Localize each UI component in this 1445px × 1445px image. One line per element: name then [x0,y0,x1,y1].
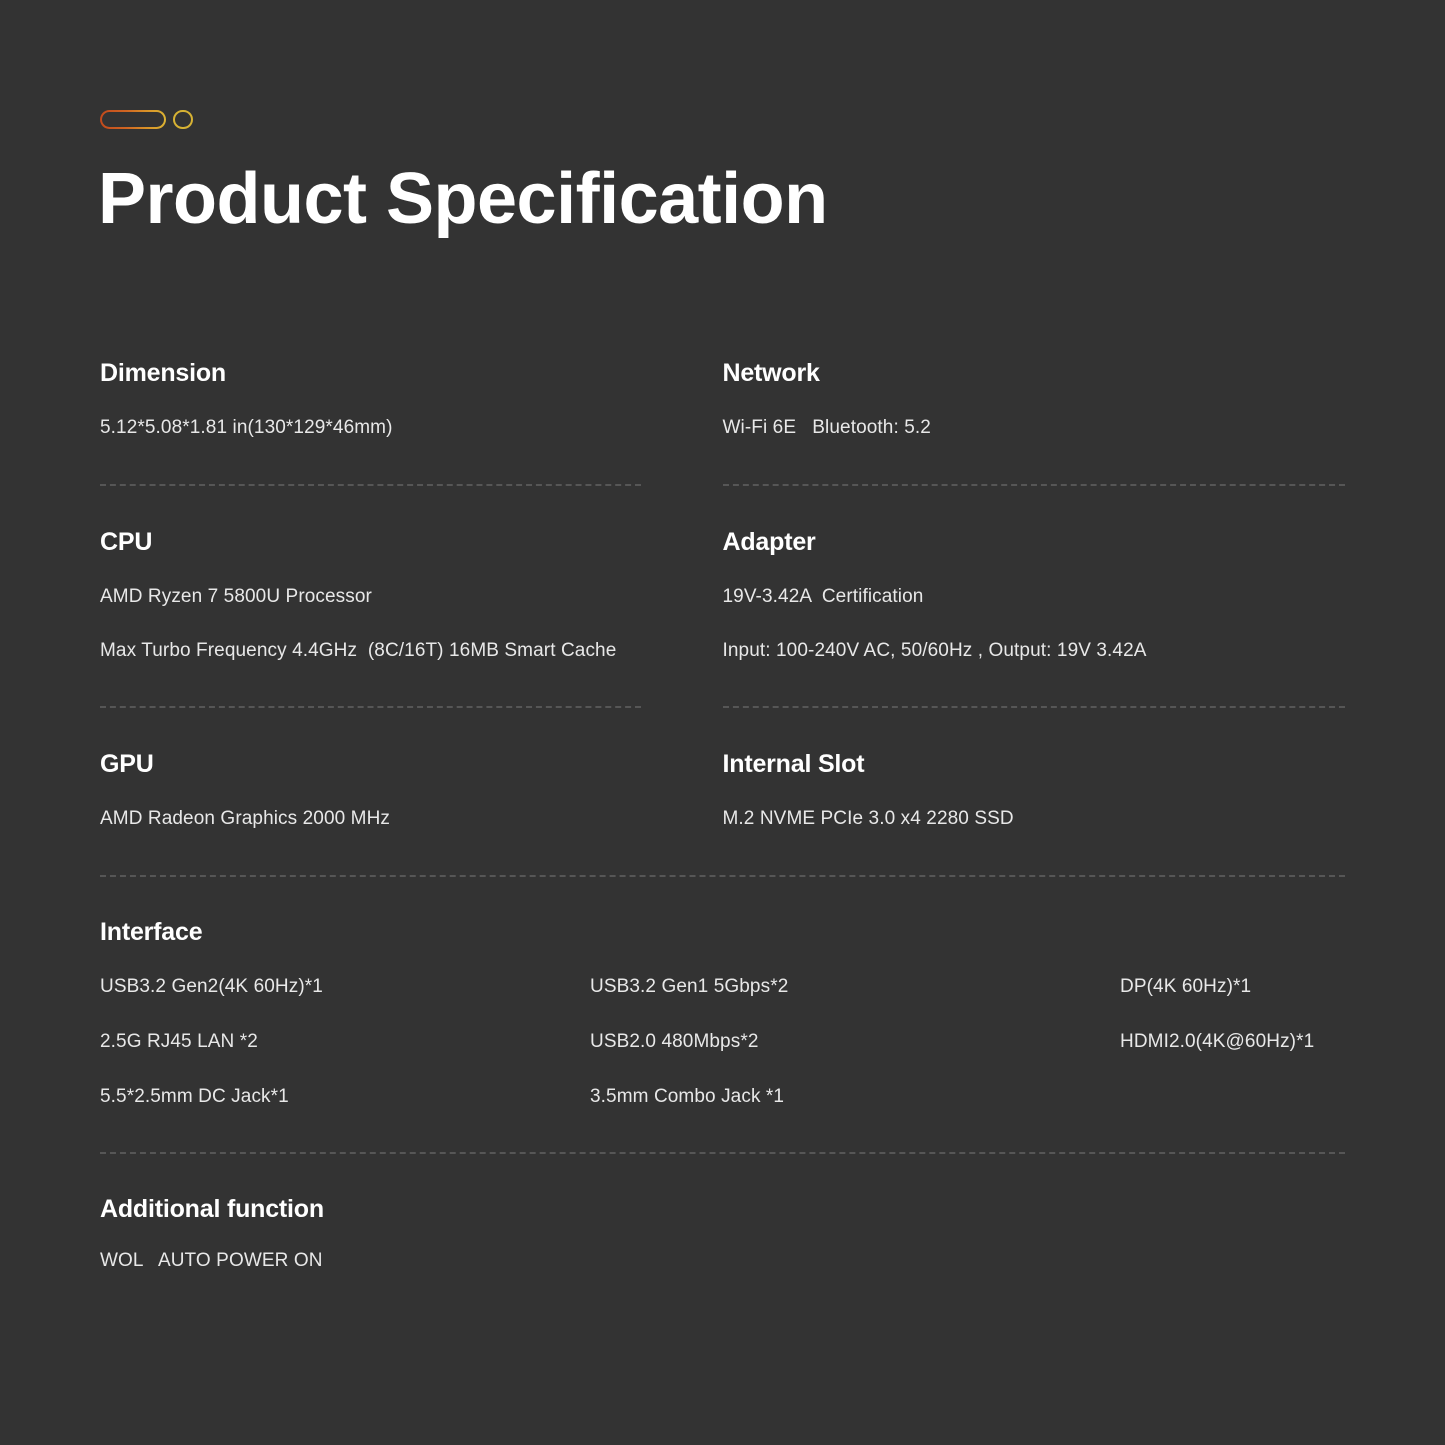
spec-group-additional-function: Additional function WOL AUTO POWER ON [100,1195,1345,1272]
spec-group-lines: 19V-3.42A Certification Input: 100-240V … [723,585,1346,663]
spec-row: CPU AMD Ryzen 7 5800U Processor Max Turb… [100,527,1345,750]
spec-line: Wi-Fi 6E Bluetooth: 5.2 [723,416,1346,440]
spec-line: AMD Ryzen 7 5800U Processor [100,585,641,609]
spec-row: Dimension 5.12*5.08*1.81 in(130*129*46mm… [100,358,1345,527]
spec-divider-full [100,1152,1345,1154]
spec-line: Max Turbo Frequency 4.4GHz (8C/16T) 16MB… [100,639,641,663]
interface-item: USB2.0 480Mbps*2 [590,1030,1120,1054]
interface-item: 2.5G RJ45 LAN *2 [100,1030,590,1054]
interface-item: 5.5*2.5mm DC Jack*1 [100,1085,590,1109]
spec-group-dimension: Dimension 5.12*5.08*1.81 in(130*129*46mm… [100,358,723,527]
spec-group-title: CPU [100,527,641,557]
brand-logo [100,110,193,129]
spec-line: 19V-3.42A Certification [723,585,1346,609]
spec-group-title: Network [723,358,1346,388]
interface-item: USB3.2 Gen2(4K 60Hz)*1 [100,975,590,999]
spec-divider [723,706,1346,708]
interface-columns: USB3.2 Gen2(4K 60Hz)*1 2.5G RJ45 LAN *2 … [100,975,1345,1108]
interface-column: DP(4K 60Hz)*1 HDMI2.0(4K@60Hz)*1 [1120,975,1345,1108]
spec-line: AMD Radeon Graphics 2000 MHz [100,807,641,831]
spec-group-lines: AMD Ryzen 7 5800U Processor Max Turbo Fr… [100,585,641,663]
spec-group-lines: M.2 NVME PCIe 3.0 x4 2280 SSD [723,807,1346,831]
logo-short-pill-icon [173,110,193,129]
spec-divider [100,706,641,708]
spec-line: Input: 100-240V AC, 50/60Hz , Output: 19… [723,639,1346,663]
spec-group-interface: Interface USB3.2 Gen2(4K 60Hz)*1 2.5G RJ… [100,918,1345,1108]
interface-column: USB3.2 Gen2(4K 60Hz)*1 2.5G RJ45 LAN *2 … [100,975,590,1108]
interface-item: DP(4K 60Hz)*1 [1120,975,1345,999]
spec-group-gpu: GPU AMD Radeon Graphics 2000 MHz [100,749,723,831]
spec-line: M.2 NVME PCIe 3.0 x4 2280 SSD [723,807,1346,831]
logo-long-pill-icon [100,110,166,129]
spec-divider [723,484,1346,486]
spec-divider [100,484,641,486]
spec-body: Dimension 5.12*5.08*1.81 in(130*129*46mm… [100,358,1345,1272]
spec-line: WOL AUTO POWER ON [100,1250,1345,1272]
spec-group-lines: AMD Radeon Graphics 2000 MHz [100,807,641,831]
spec-group-title: Dimension [100,358,641,388]
interface-item: USB3.2 Gen1 5Gbps*2 [590,975,1120,999]
spec-group-lines: 5.12*5.08*1.81 in(130*129*46mm) [100,416,641,440]
interface-item: HDMI2.0(4K@60Hz)*1 [1120,1030,1345,1054]
spec-group-title: Internal Slot [723,749,1346,779]
spec-group-adapter: Adapter 19V-3.42A Certification Input: 1… [723,527,1346,750]
spec-group-lines: Wi-Fi 6E Bluetooth: 5.2 [723,416,1346,440]
spec-group-title: Adapter [723,527,1346,557]
interface-item: 3.5mm Combo Jack *1 [590,1085,1120,1109]
spec-group-cpu: CPU AMD Ryzen 7 5800U Processor Max Turb… [100,527,723,750]
spec-group-title: Additional function [100,1195,1345,1224]
spec-row: GPU AMD Radeon Graphics 2000 MHz Interna… [100,749,1345,831]
spec-group-internal-slot: Internal Slot M.2 NVME PCIe 3.0 x4 2280 … [723,749,1346,831]
spec-group-network: Network Wi-Fi 6E Bluetooth: 5.2 [723,358,1346,527]
product-specification-page: Product Specification Dimension 5.12*5.0… [0,0,1445,1445]
spec-line: 5.12*5.08*1.81 in(130*129*46mm) [100,416,641,440]
page-title: Product Specification [98,163,828,235]
interface-column: USB3.2 Gen1 5Gbps*2 USB2.0 480Mbps*2 3.5… [590,975,1120,1108]
spec-group-title: GPU [100,749,641,779]
spec-divider-full [100,875,1345,877]
spec-group-title: Interface [100,918,1345,947]
